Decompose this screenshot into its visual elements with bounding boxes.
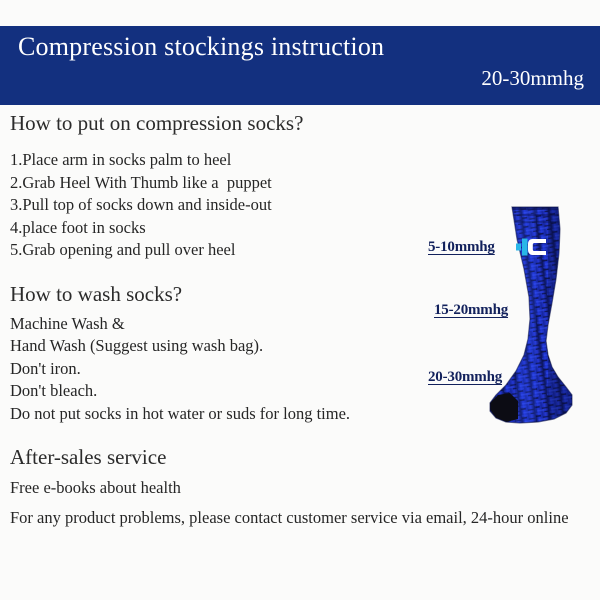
pressure-label-calf-mid: 15-20mmhg	[434, 301, 508, 319]
section-heading-wash: How to wash socks?	[10, 279, 440, 309]
section-heading-after-sales: After-sales service	[10, 442, 440, 472]
sock-brand-logo-icon	[516, 237, 548, 257]
instruction-page: Compression stockings instruction 20-30m…	[0, 0, 600, 600]
list-item: Don't bleach.	[10, 380, 440, 403]
list-item: Do not put socks in hot water or suds fo…	[10, 403, 440, 426]
list-item: 4.place foot in socks	[10, 217, 440, 240]
list-item: Don't iron.	[10, 358, 440, 381]
section-heading-put-on: How to put on compression socks?	[10, 108, 440, 138]
page-title: Compression stockings instruction	[18, 30, 384, 64]
list-item: 5.Grab opening and pull over heel	[10, 239, 440, 262]
list-item: Machine Wash &	[10, 313, 440, 336]
header-pressure-rating: 20-30mmhg	[481, 64, 584, 92]
wash-instructions-list: Machine Wash & Hand Wash (Suggest using …	[10, 313, 440, 426]
list-item: Hand Wash (Suggest using wash bag).	[10, 335, 440, 358]
pressure-label-ankle: 20-30mmhg	[428, 368, 502, 386]
list-item: Free e-books about health	[10, 477, 590, 500]
instructions-content: How to put on compression socks? 1.Place…	[10, 108, 440, 529]
pressure-label-calf-top: 5-10mmhg	[428, 238, 495, 256]
list-item: 3.Pull top of socks down and inside-out	[10, 194, 440, 217]
header-band: Compression stockings instruction 20-30m…	[0, 26, 600, 105]
list-item: 2.Grab Heel With Thumb like a puppet	[10, 172, 440, 195]
list-item: For any product problems, please contact…	[10, 507, 590, 530]
after-sales-list: Free e-books about health For any produc…	[10, 477, 440, 529]
put-on-steps-list: 1.Place arm in socks palm to heel 2.Grab…	[10, 149, 440, 262]
spacer	[10, 500, 440, 507]
list-item: 1.Place arm in socks palm to heel	[10, 149, 440, 172]
